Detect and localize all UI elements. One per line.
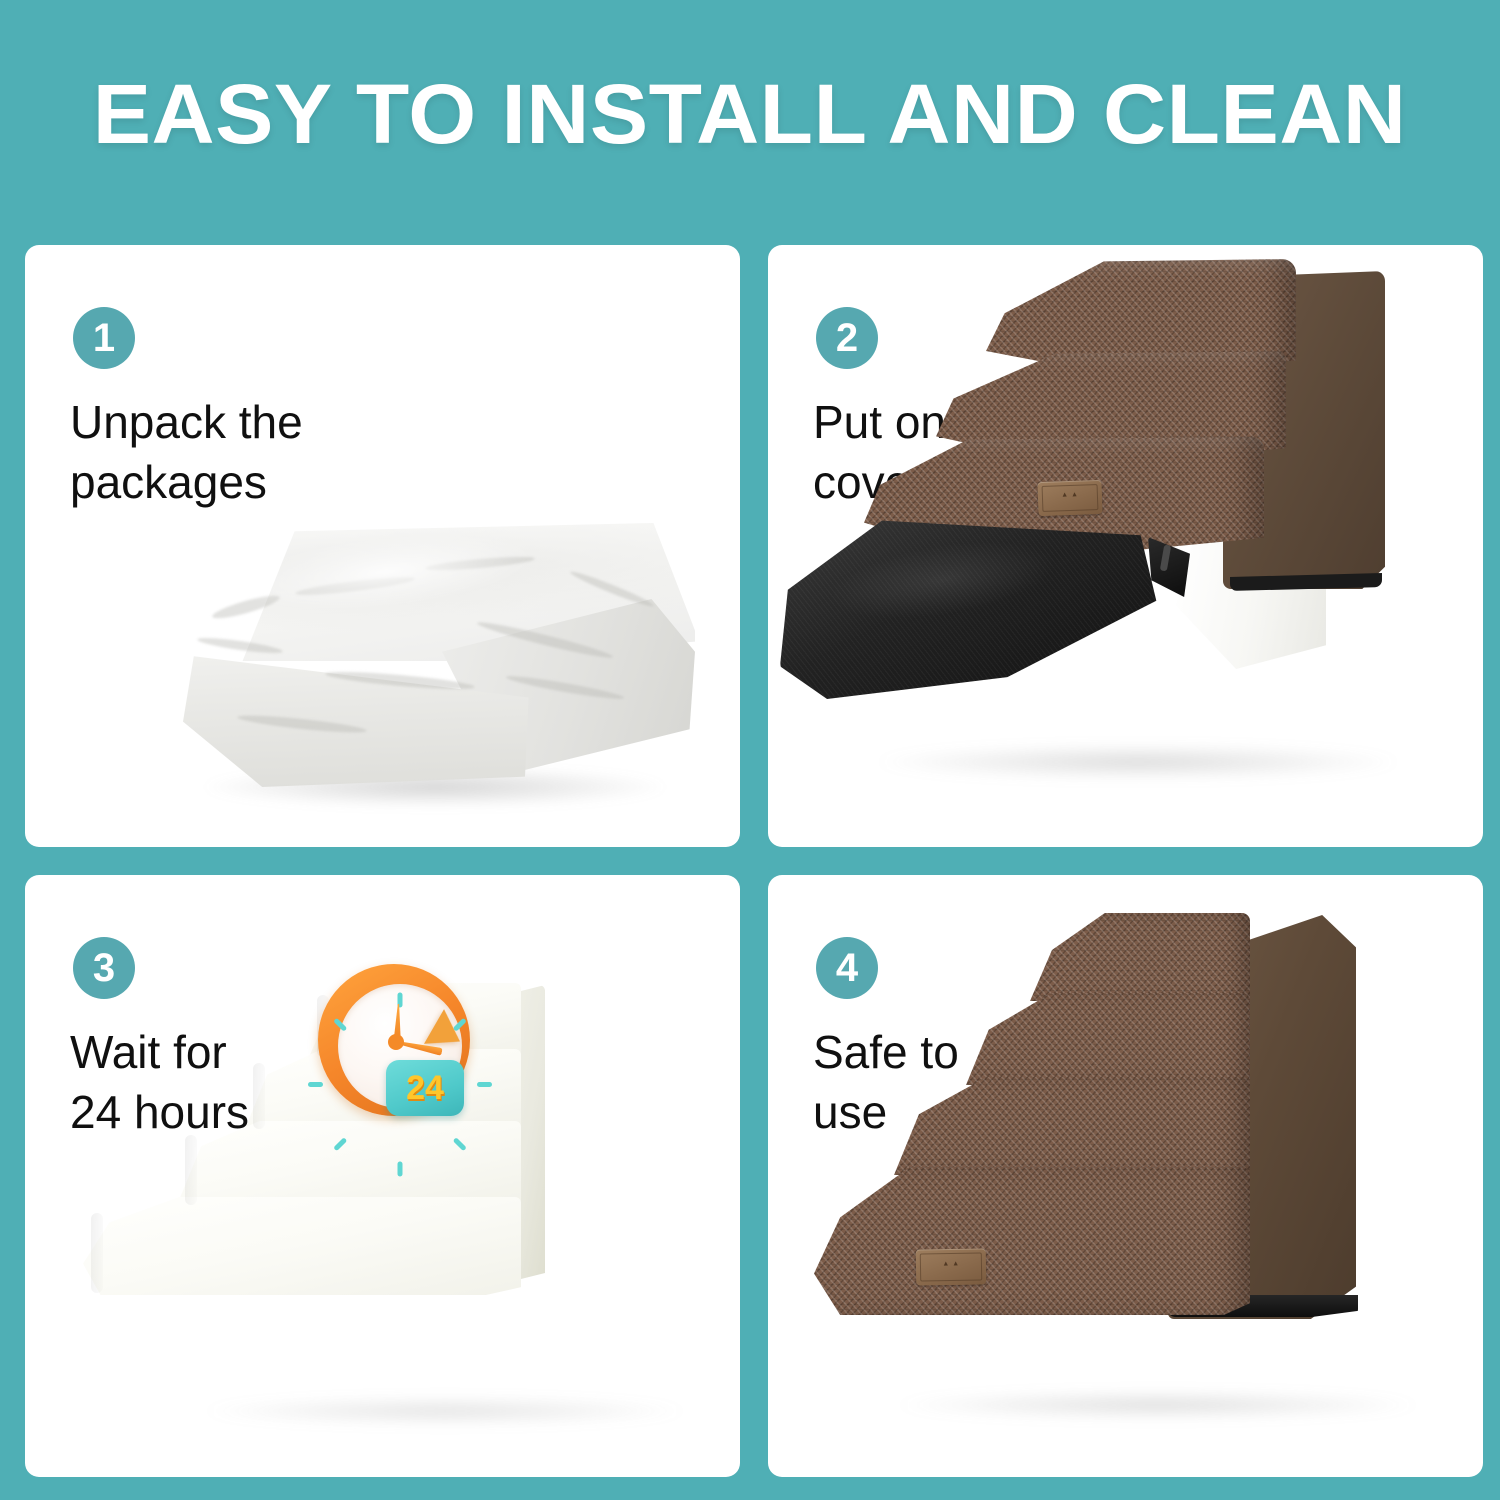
clock-tick-mark xyxy=(308,1082,323,1087)
foam-riser-shade xyxy=(185,1135,197,1205)
clock-center-pin xyxy=(388,1034,404,1050)
package-body xyxy=(175,523,695,788)
steps-grid: 1 Unpack the packages xyxy=(25,245,1475,1477)
foam-riser-shade xyxy=(253,1063,265,1129)
product-shadow xyxy=(878,745,1398,779)
step-number-badge-1: 1 xyxy=(73,307,135,369)
clock-24-badge: 24 xyxy=(386,1060,464,1116)
product-shadow xyxy=(205,1397,685,1425)
brand-leather-tag: ▲ ▲ xyxy=(916,1248,987,1285)
clock-tick-mark xyxy=(398,1162,403,1177)
foam-riser-shade xyxy=(91,1213,103,1293)
package-image xyxy=(175,515,695,815)
stairs-tread-1 xyxy=(814,1167,1250,1315)
header-banner: EASY TO INSTALL AND CLEAN xyxy=(0,0,1500,228)
cover-install-image: ▲ ▲ xyxy=(768,245,1483,847)
step-card-2: 2 Put on the cover ▲ ▲ xyxy=(768,245,1483,847)
foam-step-1 xyxy=(83,1197,521,1295)
finished-stairs-image: ▲ ▲ xyxy=(768,875,1483,1477)
step-label-1-line1: Unpack the xyxy=(70,393,303,453)
tag-logo-icon: ▲ ▲ xyxy=(942,1260,959,1267)
clock-24h-icon: 24 xyxy=(312,958,488,1134)
clock-tick-mark xyxy=(477,1082,492,1087)
clock-badge-number: 24 xyxy=(406,1071,444,1105)
page-title: EASY TO INSTALL AND CLEAN xyxy=(93,66,1407,163)
brand-leather-tag: ▲ ▲ xyxy=(1037,480,1102,516)
product-shadow xyxy=(898,1391,1418,1419)
tag-logo-icon: ▲ ▲ xyxy=(1061,491,1079,499)
step-card-4: 4 Safe to use ▲ ▲ xyxy=(768,875,1483,1477)
stairs-tread-3 xyxy=(966,993,1250,1085)
stairs-tread-4 xyxy=(1030,913,1250,1001)
stairs-tread-2 xyxy=(894,1077,1250,1175)
step-card-1: 1 Unpack the packages xyxy=(25,245,740,847)
step-label-1-line2: packages xyxy=(70,453,303,513)
step-label-1: Unpack the packages xyxy=(70,393,303,513)
